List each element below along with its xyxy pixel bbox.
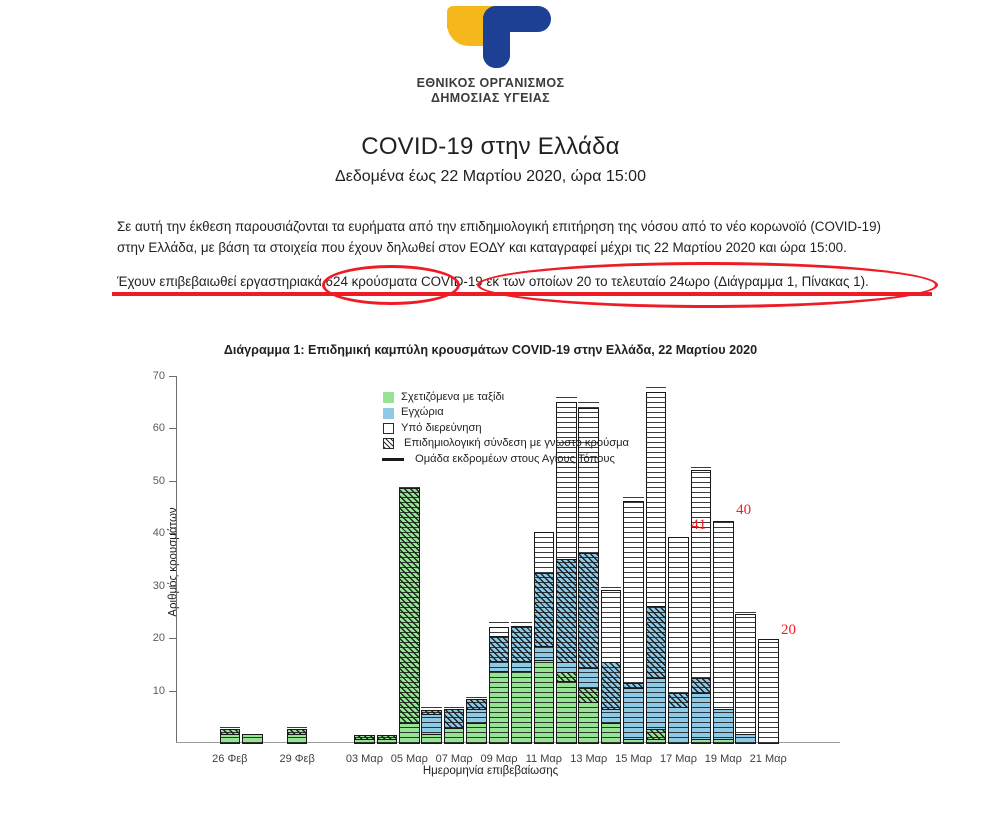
chart-annotation-40: 40 [736,502,751,519]
bar-segment-travel [466,723,487,744]
annotation-underline [112,292,932,296]
legend-label-unknown: Υπό διερεύνηση [401,421,482,436]
bar-segment-travel [444,728,465,744]
chart-annotation-41: 41 [691,517,706,534]
y-axis-line [176,376,177,743]
legend-swatch-local-icon [383,408,394,419]
bar-04-Μαρ [377,733,398,743]
bar-segment-travel [578,702,599,744]
bar-27-Φεβ [242,733,263,743]
bar-26-Φεβ [220,727,241,743]
bar-segment-local [668,707,689,744]
bar-segment-unknown [691,470,712,680]
page-title: COVID-19 στην Ελλάδα [0,133,981,161]
bar-segment-travel [713,739,734,744]
bar-segment-local-link [444,709,465,730]
bar-11-Μαρ [534,528,555,743]
x-tick-label-21-Μαρ: 21 Μαρ [750,753,787,765]
legend-item-travel: Σχετιζόμενα με ταξίδι [383,390,629,405]
bar-segment-travel [601,723,622,744]
bar-segment-local [646,678,667,730]
legend-swatch-link-icon [383,438,394,449]
y-tick-label-70: 70 [153,370,165,382]
bar-segment-local [534,646,555,662]
bar-03-Μαρ [354,733,375,743]
bar-19-Μαρ [713,518,734,743]
bar-segment-local [735,734,756,744]
bar-segment-travel [354,739,375,744]
bar-29-Φεβ [287,727,308,743]
bar-segment-travel [421,734,442,744]
epidemic-curve-chart: Αριθμός κρουσμάτων Ημερομηνία επιβεβαίωσ… [0,360,981,780]
bar-segment-travel [399,723,420,744]
chart-annotation-20: 20 [781,622,796,639]
x-tick-label-03-Μαρ: 03 Μαρ [346,753,383,765]
bar-segment-travel [691,739,712,744]
bar-segment-local [466,709,487,725]
bar-segment-travel [623,739,644,744]
page-subtitle: Δεδομένα έως 22 Μαρτίου 2020, ώρα 15:00 [0,168,981,186]
bar-segment-travel [534,660,555,744]
bar-segment-unknown [601,590,622,663]
x-tick-label-19-Μαρ: 19 Μαρ [705,753,742,765]
bar-segment-unknown [713,521,734,710]
bar-segment-travel [646,739,667,744]
legend-item-unknown: Υπό διερεύνηση [383,421,629,436]
y-tick-50 [169,481,176,482]
bar-18-Μαρ [691,465,712,743]
y-tick-10 [169,691,176,692]
bar-20-Μαρ [735,612,756,743]
legend-label-link: Επιδημιολογική σύνδεση με γνωστό κρούσμα [404,436,629,451]
x-tick-label-11-Μαρ: 11 Μαρ [526,753,562,765]
report-page: ΕΘΝΙΚΟΣ ΟΡΓΑΝΙΣΜΟΣ ΔΗΜΟΣΙΑΣ ΥΓΕΙΑΣ COVID… [0,0,981,818]
y-tick-label-20: 20 [153,632,165,644]
bar-segment-unknown [534,532,555,574]
x-tick-label-13-Μαρ: 13 Μαρ [570,753,607,765]
bar-segment-local [578,668,599,689]
x-tick-label-29-Φεβ: 29 Φεβ [279,753,314,765]
y-tick-label-30: 30 [153,580,165,592]
y-tick-20 [169,638,176,639]
legend-item-group: Ομάδα εκδρομέων στους Αγίους Τόπους [383,452,629,467]
x-axis-label: Ημερομηνία επιβεβαίωσης [0,765,981,777]
legend-item-link: Επιδημιολογική σύνδεση με γνωστό κρούσμα [383,436,629,451]
x-tick-label-15-Μαρ: 15 Μαρ [615,753,652,765]
bar-07-Μαρ [444,706,465,743]
bar-segment-unknown [758,639,779,744]
bar-segment-local [713,709,734,740]
bar-segment-local-link [668,693,689,709]
bar-segment-unknown [735,614,756,735]
y-tick-30 [169,586,176,587]
bar-segment-unknown [623,501,644,685]
bar-14-Μαρ [601,586,622,743]
legend-label-travel: Σχετιζόμενα με ταξίδι [401,390,504,405]
intro-paragraph-line-1: Σε αυτή την έκθεση παρουσιάζονται τα ευρ… [117,216,881,237]
org-name-line-2: ΔΗΜΟΣΙΑΣ ΥΓΕΙΑΣ [417,91,565,106]
bar-segment-unknown [646,392,667,607]
bar-segment-travel [242,734,263,744]
y-tick-label-40: 40 [153,527,165,539]
bar-segment-local-link [534,573,555,646]
x-tick-label-09-Μαρ: 09 Μαρ [480,753,517,765]
org-name-line-1: ΕΘΝΙΚΟΣ ΟΡΓΑΝΙΣΜΟΣ [417,76,565,91]
bar-05-Μαρ [399,486,420,743]
bar-segment-local-link [646,606,667,679]
eody-logo: ΕΘΝΙΚΟΣ ΟΡΓΑΝΙΣΜΟΣ ΔΗΜΟΣΙΑΣ ΥΓΕΙΑΣ [0,4,981,106]
y-tick-60 [169,428,176,429]
bar-17-Μαρ [668,533,689,743]
bar-08-Μαρ [466,696,487,743]
chart-legend: Σχετιζόμενα με ταξίδιΕγχώριαΥπό διερεύνη… [383,390,629,467]
bar-segment-local-link [601,662,622,709]
bar-segment-local [421,714,442,735]
bar-segment-travel [489,671,510,744]
x-tick-label-26-Φεβ: 26 Φεβ [212,753,247,765]
legend-item-local: Εγχώρια [383,405,629,420]
y-tick-label-10: 10 [153,685,165,697]
legend-swatch-group-icon [382,458,404,461]
bar-segment-travel-link [399,488,420,724]
y-tick-70 [169,376,176,377]
bar-segment-local [623,688,644,740]
chart-title: Διάγραμμα 1: Επιδημική καμπύλη κρουσμάτω… [0,343,981,357]
bar-10-Μαρ [511,622,532,743]
y-tick-40 [169,533,176,534]
bar-segment-travel [287,734,308,744]
legend-label-local: Εγχώρια [401,405,444,420]
bar-segment-local-link [511,626,532,663]
bar-segment-travel [220,734,241,744]
legend-swatch-unknown-icon [383,423,394,434]
legend-swatch-travel-icon [383,392,394,403]
bar-segment-unknown [668,537,689,694]
bar-segment-travel-link [578,688,599,704]
bar-segment-local [601,709,622,725]
bar-segment-travel [511,671,532,744]
bar-segment-local-link [489,636,510,662]
bar-segment-local-link [556,559,577,664]
x-tick-label-07-Μαρ: 07 Μαρ [436,753,473,765]
legend-label-group: Ομάδα εκδρομέων στους Αγίους Τόπους [415,452,615,467]
bar-21-Μαρ [758,638,779,743]
y-tick-label-50: 50 [153,475,165,487]
bar-09-Μαρ [489,622,510,743]
bar-segment-local-link [691,678,712,694]
bar-15-Μαρ [623,497,644,743]
plot-area: 10203040506070 26 Φεβ29 Φεβ03 Μαρ05 Μαρ0… [176,376,840,743]
organization-name: ΕΘΝΙΚΟΣ ΟΡΓΑΝΙΣΜΟΣ ΔΗΜΟΣΙΑΣ ΥΓΕΙΑΣ [417,76,565,106]
x-tick-label-17-Μαρ: 17 Μαρ [660,753,697,765]
y-tick-label-60: 60 [153,422,165,434]
eody-logo-mark [429,4,553,68]
x-tick-label-05-Μαρ: 05 Μαρ [391,753,428,765]
bar-segment-local [691,693,712,740]
bar-segment-local-link [578,553,599,668]
bar-segment-travel [377,739,398,744]
bar-06-Μαρ [421,706,442,743]
case-count-paragraph: Έχουν επιβεβαιωθεί εργαστηριακά 624 κρού… [117,271,869,292]
intro-paragraph-line-2: στην Ελλάδα, με βάση τα στοιχεία που έχο… [117,237,847,258]
logo-blue-elbow [483,34,510,68]
bar-segment-travel [556,681,577,744]
bar-16-Μαρ [646,387,667,744]
